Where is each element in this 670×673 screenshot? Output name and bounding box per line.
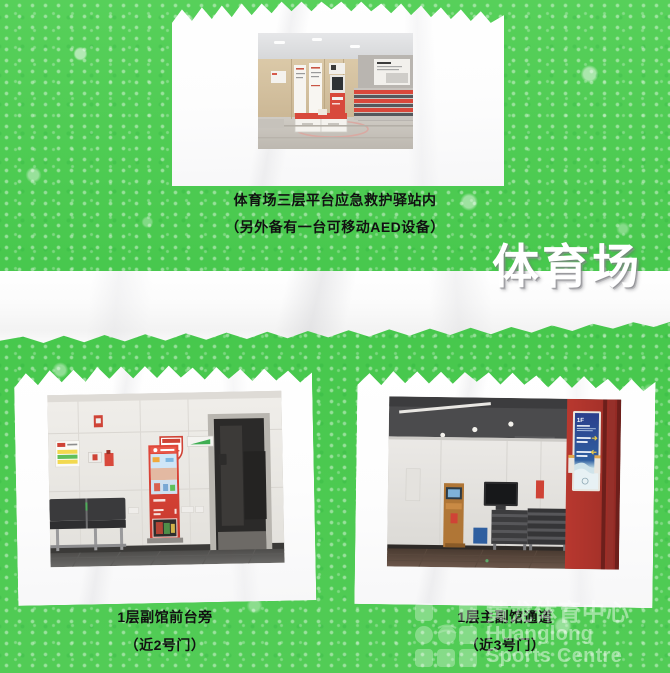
photo-card-bottom-left [14, 358, 317, 606]
page-title: 体育场 [492, 243, 642, 290]
photo-card-top [172, 0, 504, 186]
caption-bottom-left-line2: （近2号门） [25, 638, 305, 654]
caption-top-line2: （另外备有一台可移动AED设备） [95, 220, 575, 236]
caption-bottom-right-line2: （近3号门） [365, 638, 645, 654]
photo-card-bottom-right: 1F [354, 366, 655, 608]
caption-bottom-right-line1: 1层主副馆通道 [365, 610, 645, 626]
photo-floor1-main-annex-corridor: 1F [387, 396, 621, 569]
photo-stadium-tier3-aid-station [258, 33, 413, 149]
photo-floor1-annex-front-desk [47, 391, 284, 567]
svg-text:1F: 1F [577, 418, 584, 424]
caption-top-line1: 体育场三层平台应急救护驿站内 [95, 193, 575, 209]
caption-bottom-left-line1: 1层副馆前台旁 [25, 610, 305, 626]
poster-root: 体育场三层平台应急救护驿站内 （另外备有一台可移动AED设备） 体育场 [0, 0, 670, 673]
